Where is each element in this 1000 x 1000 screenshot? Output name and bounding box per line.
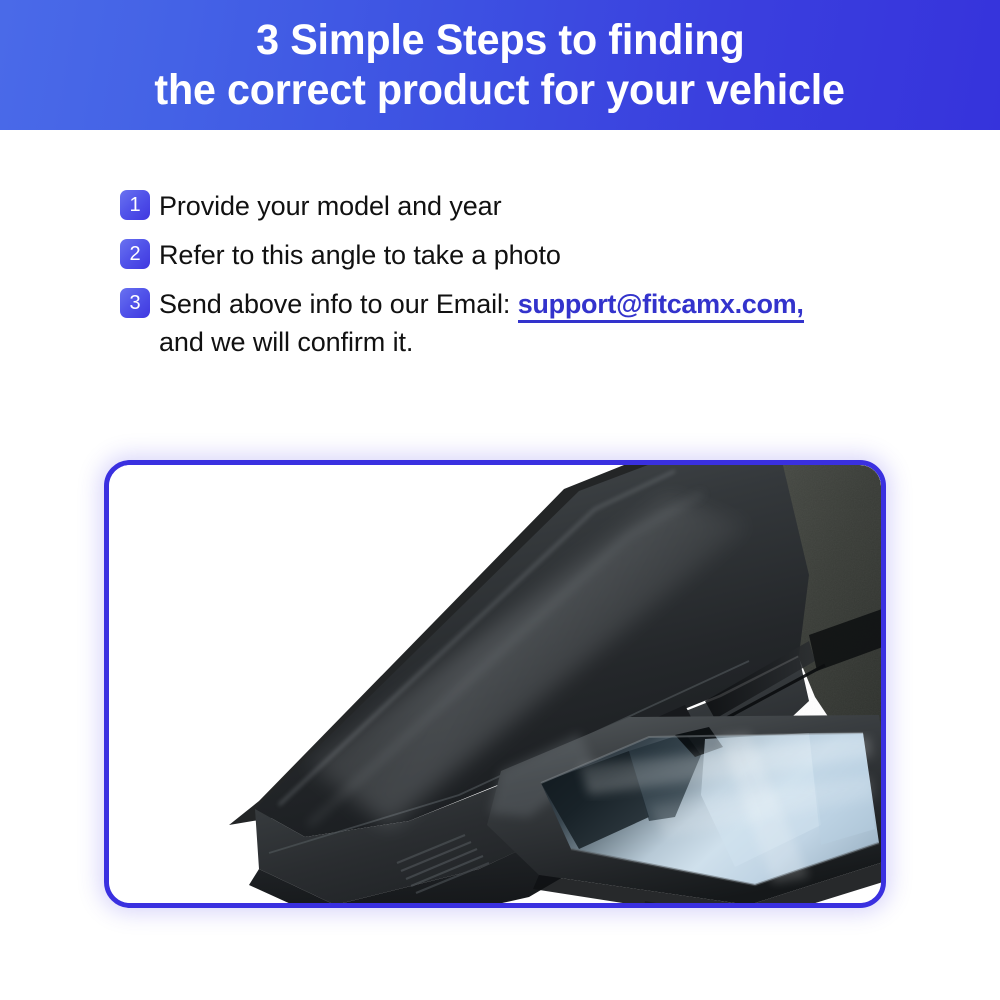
page-title-line-1: 3 Simple Steps to finding: [256, 15, 744, 65]
support-email-link[interactable]: support@fitcamx.com,: [518, 289, 804, 323]
step-badge-3: 3: [120, 288, 150, 318]
reference-photo-frame: [104, 460, 886, 908]
step-badge-1: 1: [120, 190, 150, 220]
reference-photo: [109, 465, 881, 903]
windshield-dashcam-photo-illustration: [109, 465, 881, 903]
step-text-1: Provide your model and year: [159, 188, 502, 224]
steps-list: 1 Provide your model and year 2 Refer to…: [120, 188, 920, 373]
step-3-continuation-text: and we will confirm it.: [159, 324, 804, 360]
list-item: 1 Provide your model and year: [120, 188, 920, 224]
list-item: 3 Send above info to our Email: support@…: [120, 286, 920, 360]
list-item: 2 Refer to this angle to take a photo: [120, 237, 920, 273]
step-text-2: Refer to this angle to take a photo: [159, 237, 561, 273]
page-title-line-2: the correct product for your vehicle: [155, 65, 845, 115]
step-badge-2: 2: [120, 239, 150, 269]
step-text-3: Send above info to our Email: support@fi…: [159, 286, 804, 360]
step-3-lead-text: Send above info to our Email:: [159, 289, 518, 319]
header-banner: 3 Simple Steps to finding the correct pr…: [0, 0, 1000, 130]
